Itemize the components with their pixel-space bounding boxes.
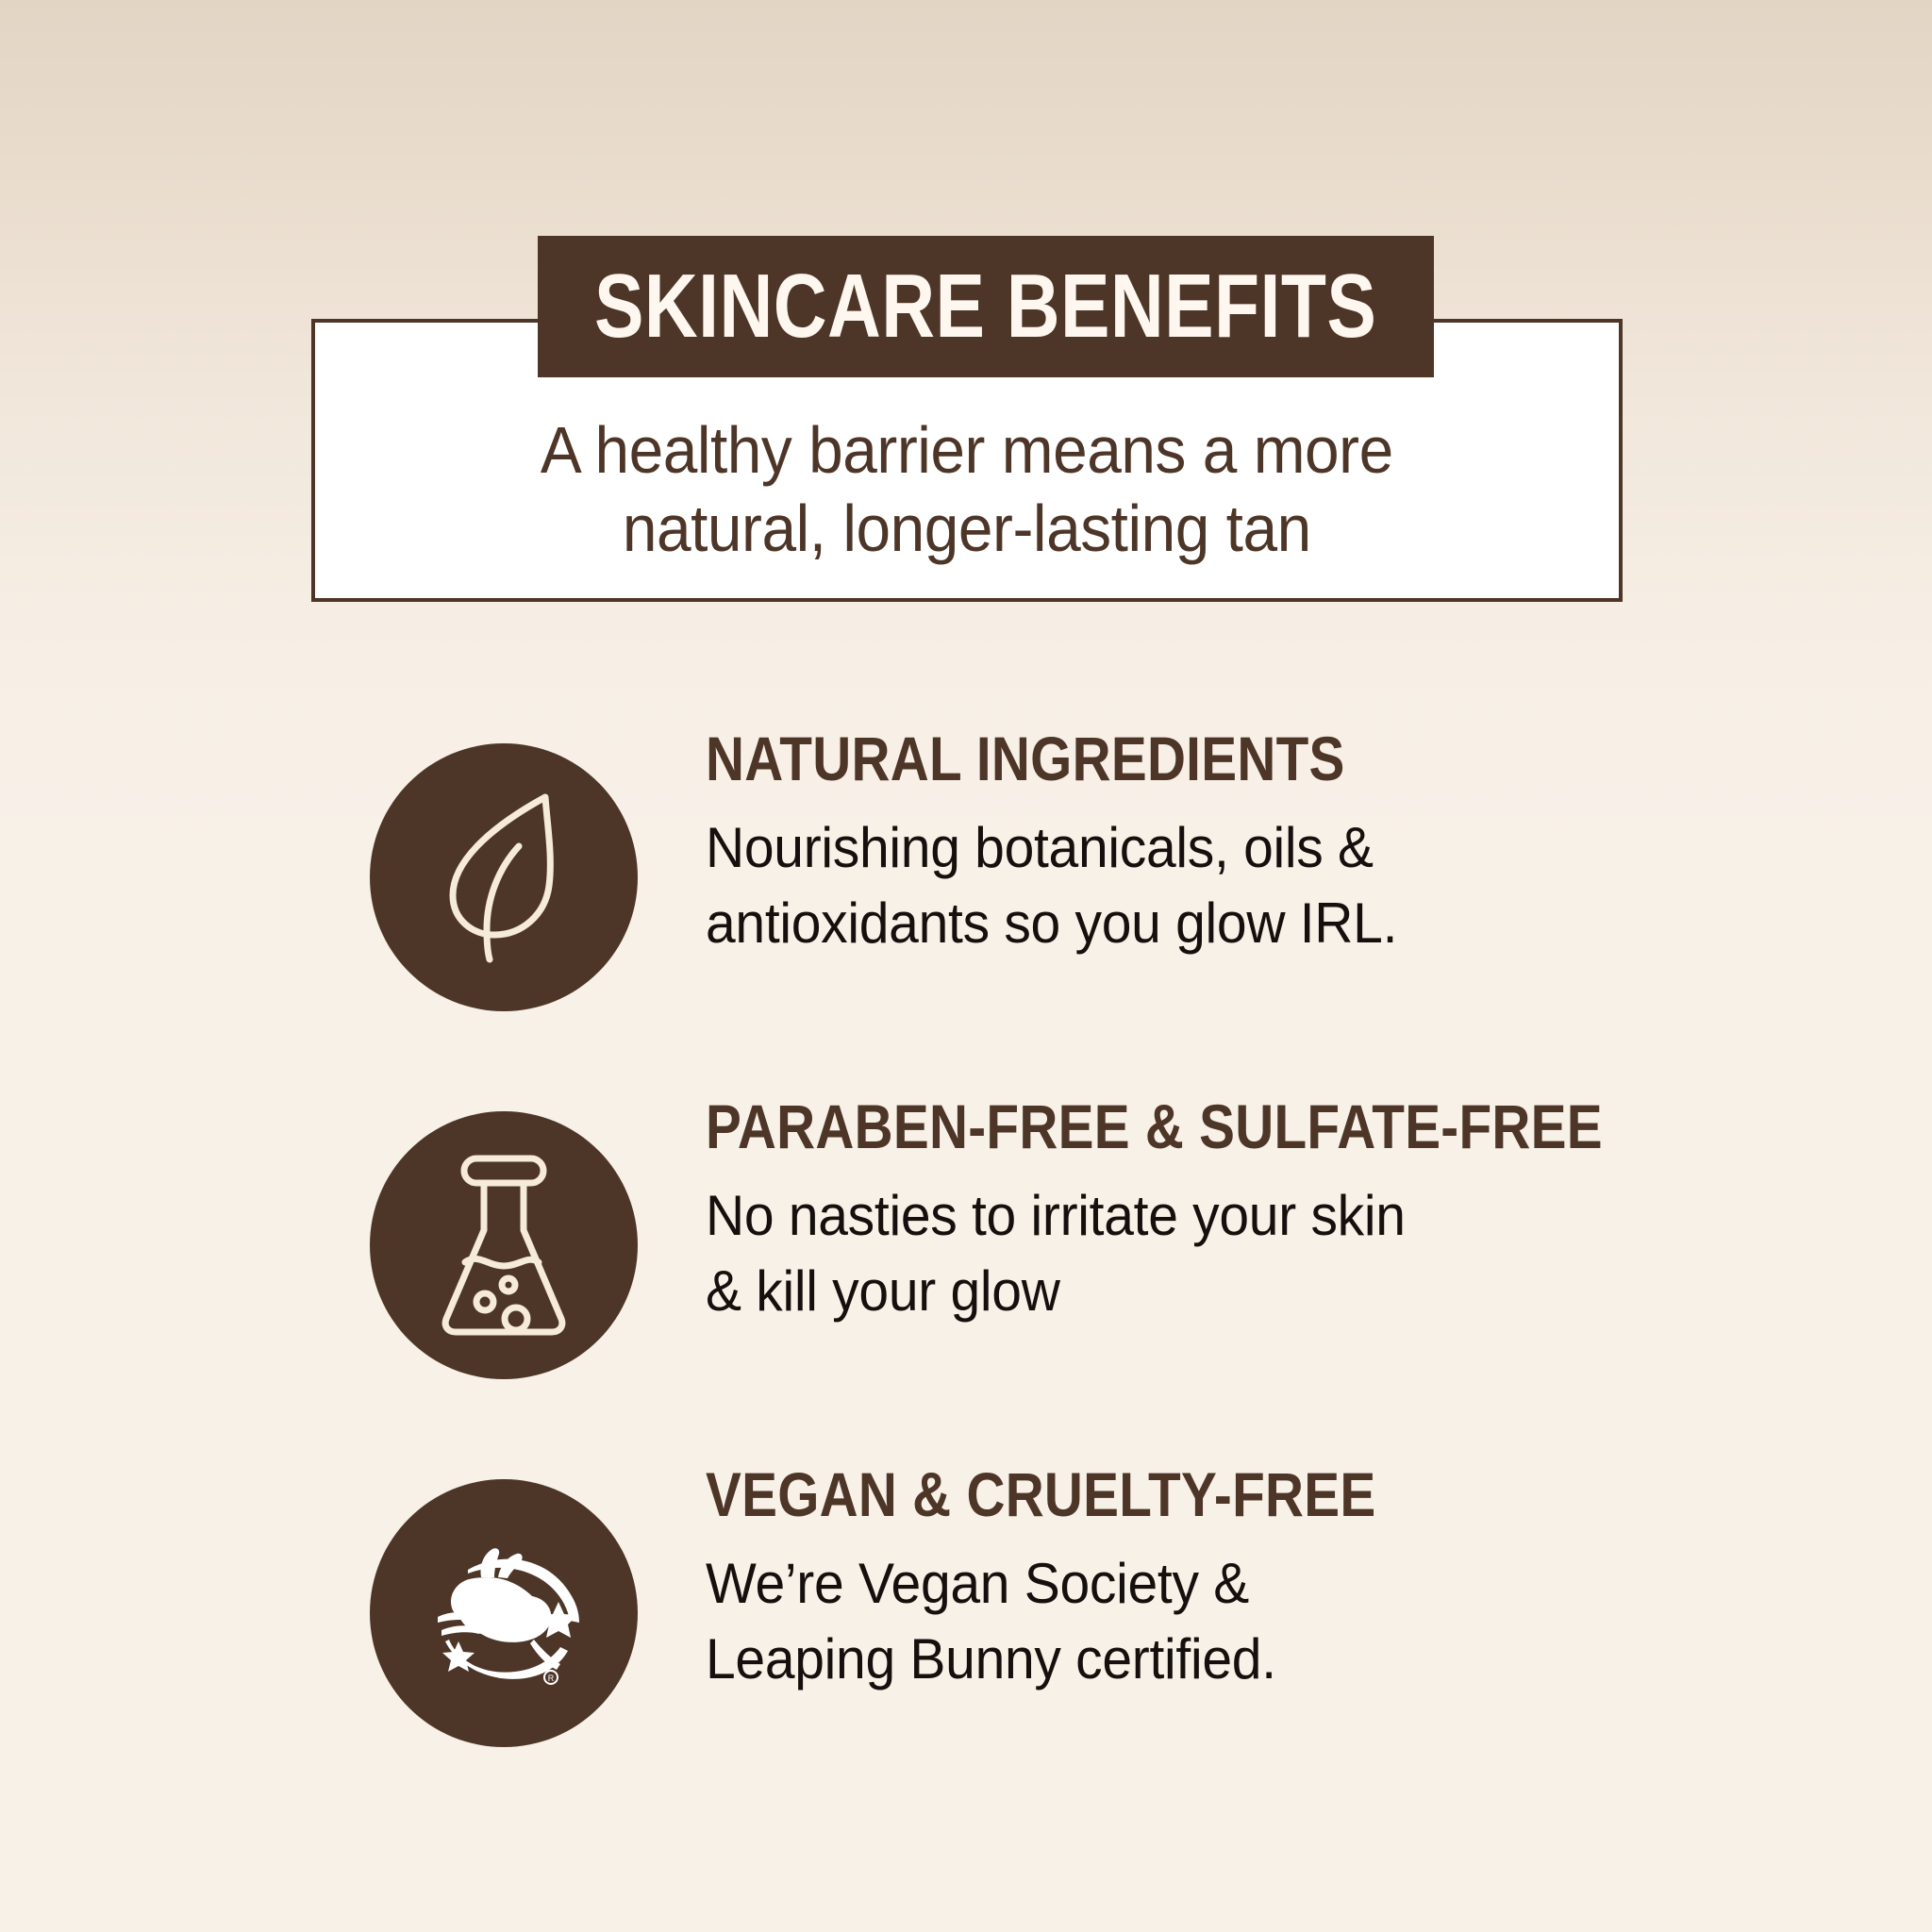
benefit-description-line-2: antioxidants so you glow IRL. [706,886,1412,961]
benefit-item-natural-ingredients: NATURAL INGREDIENTS Nourishing botanical… [0,717,1932,1011]
benefit-text-vegan-cruelty-free: VEGAN & CRUELTY-FREE We’re Vegan Society… [706,1453,1485,1697]
benefit-title: VEGAN & CRUELTY-FREE [706,1462,1376,1527]
benefit-description-line-2: Leaping Bunny certified. [706,1622,1446,1697]
header-block: A healthy barrier means a more natural, … [311,236,1623,604]
page-title: SKINCARE BENEFITS [594,261,1376,352]
benefit-text-paraben-free: PARABEN-FREE & SULFATE-FREE No nasties t… [706,1085,1583,1329]
header-subtitle-line-2: natural, longer-lasting tan [623,491,1311,565]
benefit-text-natural-ingredients: NATURAL INGREDIENTS Nourishing botanical… [706,717,1449,961]
header-banner: SKINCARE BENEFITS [538,236,1434,377]
benefit-description-line-1: Nourishing botanicals, oils & [706,810,1412,886]
benefits-list: NATURAL INGREDIENTS Nourishing botanical… [0,717,1932,1821]
leaping-bunny-icon: R [370,1479,638,1747]
benefit-item-paraben-free: PARABEN-FREE & SULFATE-FREE No nasties t… [0,1085,1932,1379]
benefit-description-line-1: No nasties to irritate your skin [706,1178,1540,1254]
benefit-item-vegan-cruelty-free: R VEGAN & CRUELTY-FREE We’re Vegan Socie… [0,1453,1932,1747]
benefit-description: No nasties to irritate your skin & kill … [706,1178,1540,1329]
benefit-description-line-2: & kill your glow [706,1254,1540,1329]
leaf-icon [370,743,638,1011]
benefit-description: We’re Vegan Society & Leaping Bunny cert… [706,1546,1446,1697]
flask-icon [370,1111,638,1379]
benefit-description: Nourishing botanicals, oils & antioxidan… [706,810,1412,961]
benefit-title: NATURAL INGREDIENTS [706,726,1345,791]
benefit-title: PARABEN-FREE & SULFATE-FREE [706,1094,1460,1159]
svg-text:R: R [548,1674,555,1683]
header-subtitle-line-1: A healthy barrier means a more [541,413,1393,487]
header-subtitle: A healthy barrier means a more natural, … [541,411,1393,567]
benefit-description-line-1: We’re Vegan Society & [706,1546,1446,1622]
